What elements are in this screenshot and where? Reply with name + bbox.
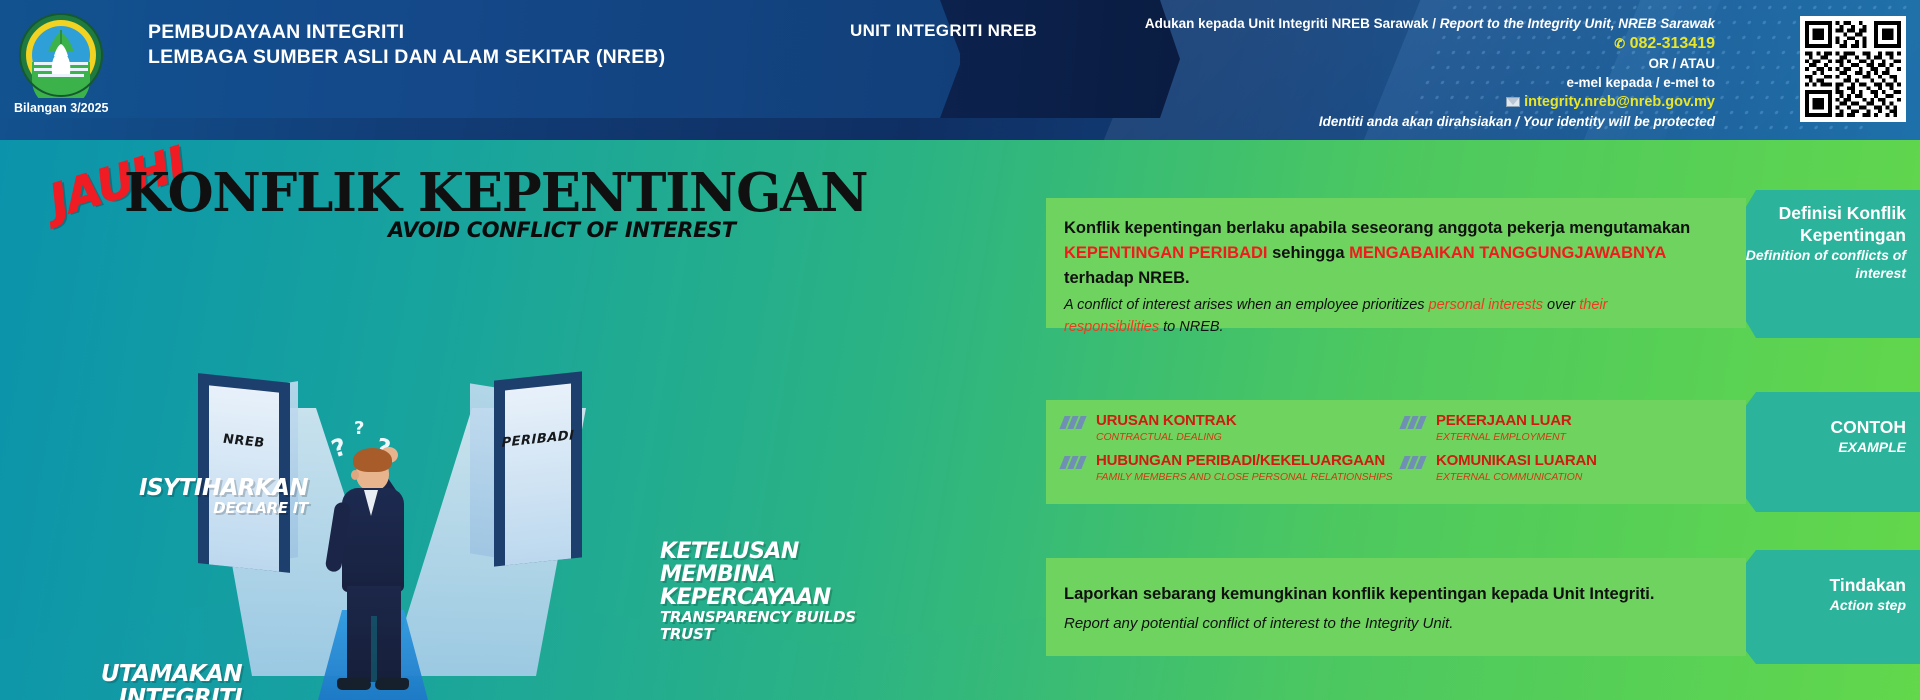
- example-item-en: EXTERNAL COMMUNICATION: [1436, 470, 1732, 484]
- example-item: PEKERJAAN LUAR EXTERNAL EMPLOYMENT: [1402, 412, 1732, 444]
- example-item-en: CONTRACTUAL DEALING: [1096, 430, 1402, 444]
- definition-text-bm: Konflik kepentingan berlaku apabila sese…: [1064, 216, 1724, 291]
- privacy-note: Identiti anda akan dirahsiakan / Your id…: [995, 112, 1715, 132]
- caption-trust-bm-line2: KEPERCAYAAN: [660, 586, 910, 609]
- example-item: KOMUNIKASI LUARAN EXTERNAL COMMUNICATION: [1402, 452, 1732, 484]
- example-item-bm: URUSAN KONTRAK: [1096, 412, 1402, 430]
- caption-trust: KETELUSAN MEMBINA KEPERCAYAAN TRANSPAREN…: [660, 540, 910, 643]
- person-shoe-left: [337, 678, 371, 690]
- card-tab-example-en: EXAMPLE: [1726, 438, 1906, 456]
- door-opening: [505, 384, 571, 566]
- nreb-logo: [18, 12, 104, 98]
- header-contact-block: Adukan kepada Unit Integriti NREB Sarawa…: [995, 14, 1715, 132]
- triple-bar-bullet-icon: [1062, 456, 1088, 469]
- action-text-en: Report any potential conflict of interes…: [1064, 612, 1724, 635]
- infographic-poster: PEMBUDAYAAN INTEGRITI LEMBAGA SUMBER ASL…: [0, 0, 1920, 700]
- person-shoe-right: [375, 678, 409, 690]
- caption-integrity-bm: UTAMAKAN INTEGRITI: [12, 662, 242, 700]
- example-item: URUSAN KONTRAK CONTRACTUAL DEALING: [1062, 412, 1402, 444]
- report-line: Adukan kepada Unit Integriti NREB Sarawa…: [995, 14, 1715, 33]
- person-hair: [353, 448, 392, 472]
- door-peribadi: PERIBADI: [494, 371, 582, 566]
- or-atau-label: OR / ATAU: [995, 54, 1715, 73]
- triple-bar-bullet-icon: [1062, 416, 1088, 429]
- card-tab-definition-en: Definition of conflicts of interest: [1726, 246, 1906, 282]
- definition-en-highlight1: personal interests: [1429, 297, 1543, 313]
- page-title: KONFLIK KEPENTINGAN: [124, 162, 867, 224]
- person-illustration: ? ? ?: [318, 440, 430, 700]
- card-tab-action-text: Tindakan Action step: [1726, 574, 1906, 614]
- question-mark-icon: ?: [328, 433, 350, 464]
- contact-email[interactable]: integrity.nreb@nreb.gov.my: [995, 92, 1715, 112]
- header-org-title: PEMBUDAYAAN INTEGRITI LEMBAGA SUMBER ASL…: [148, 20, 665, 70]
- examples-column-right: PEKERJAAN LUAR EXTERNAL EMPLOYMENT KOMUN…: [1402, 412, 1732, 492]
- definition-bm-highlight2: MENGABAIKAN TANGGUNGJAWABNYA: [1349, 244, 1666, 262]
- example-item-bm: HUBUNGAN PERIBADI/KEKELUARGAAN: [1096, 452, 1402, 470]
- triple-bar-bullet-icon: [1402, 416, 1428, 429]
- envelope-icon: [1506, 97, 1520, 107]
- card-examples: URUSAN KONTRAK CONTRACTUAL DEALING HUBUN…: [1046, 400, 1746, 504]
- phone-icon: ✆: [1614, 36, 1625, 51]
- card-tab-action-en: Action step: [1726, 596, 1906, 614]
- action-text-bm: Laporkan sebarang kemungkinan konflik ke…: [1064, 582, 1724, 606]
- caption-trust-bm-line1: KETELUSAN MEMBINA: [660, 540, 910, 586]
- example-item: HUBUNGAN PERIBADI/KEKELUARGAAN FAMILY ME…: [1062, 452, 1402, 484]
- report-line-en: Report to the Integrity Unit, NREB Saraw…: [1440, 16, 1715, 31]
- triple-bar-bullet-icon: [1402, 456, 1428, 469]
- email-label: e-mel kepada / e-mel to: [995, 73, 1715, 92]
- email-address: integrity.nreb@nreb.gov.my: [1524, 94, 1715, 110]
- example-item-bm: PEKERJAAN LUAR: [1436, 412, 1732, 430]
- definition-text-en: A conflict of interest arises when an em…: [1064, 294, 1704, 338]
- definition-bm-part1: Konflik kepentingan berlaku apabila sese…: [1064, 219, 1690, 237]
- definition-en-part2: over: [1543, 297, 1579, 313]
- examples-column-left: URUSAN KONTRAK CONTRACTUAL DEALING HUBUN…: [1062, 412, 1402, 492]
- poster-header: PEMBUDAYAAN INTEGRITI LEMBAGA SUMBER ASL…: [0, 0, 1920, 140]
- hero-illustration: JAUHI KONFLIK KEPENTINGAN AVOID CONFLICT…: [0, 140, 850, 700]
- caption-declare-en: DECLARE IT: [88, 500, 308, 517]
- card-tab-example-bm: CONTOH: [1726, 416, 1906, 438]
- example-item-bm: KOMUNIKASI LUARAN: [1436, 452, 1732, 470]
- report-line-bm: Adukan kepada Unit Integriti NREB Sarawa…: [1145, 16, 1440, 31]
- card-tab-definition-text: Definisi Konflik Kepentingan Definition …: [1726, 202, 1906, 282]
- header-org-line2: LEMBAGA SUMBER ASLI DAN ALAM SEKITAR (NR…: [148, 45, 665, 70]
- caption-declare-bm: ISYTIHARKAN: [88, 476, 308, 500]
- caption-trust-en: TRANSPARENCY BUILDS TRUST: [660, 609, 910, 643]
- definition-bm-part3: terhadap NREB.: [1064, 269, 1190, 287]
- header-org-line1: PEMBUDAYAAN INTEGRITI: [148, 20, 665, 45]
- contact-phone[interactable]: ✆ 082-313419: [995, 33, 1715, 54]
- caption-integrity: UTAMAKAN INTEGRITI INTEGRITY FIRST: [12, 662, 242, 700]
- issue-number: Bilangan 3/2025: [14, 101, 109, 115]
- example-item-en: FAMILY MEMBERS AND CLOSE PERSONAL RELATI…: [1096, 470, 1402, 484]
- phone-number: 082-313419: [1630, 35, 1715, 52]
- card-tab-action-bm: Tindakan: [1726, 574, 1906, 596]
- definition-bm-highlight1: KEPENTINGAN PERIBADI: [1064, 244, 1268, 262]
- card-definition: Konflik kepentingan berlaku apabila sese…: [1046, 198, 1746, 328]
- person-legs: [347, 586, 401, 682]
- question-mark-icon: ?: [354, 418, 364, 439]
- card-tab-definition-bm: Definisi Konflik Kepentingan: [1726, 202, 1906, 246]
- qr-code[interactable]: [1800, 16, 1906, 122]
- page-subtitle: AVOID CONFLICT OF INTEREST: [388, 218, 736, 242]
- definition-bm-part2: sehingga: [1268, 244, 1350, 262]
- person-ear: [351, 470, 359, 480]
- example-item-en: EXTERNAL EMPLOYMENT: [1436, 430, 1732, 444]
- definition-en-part1: A conflict of interest arises when an em…: [1064, 297, 1429, 313]
- door-nreb: NREB: [198, 373, 290, 573]
- card-action: Laporkan sebarang kemungkinan konflik ke…: [1046, 558, 1746, 656]
- card-tab-example-text: CONTOH EXAMPLE: [1726, 416, 1906, 456]
- caption-declare: ISYTIHARKAN DECLARE IT: [88, 476, 308, 517]
- definition-en-part3: to NREB.: [1159, 319, 1223, 335]
